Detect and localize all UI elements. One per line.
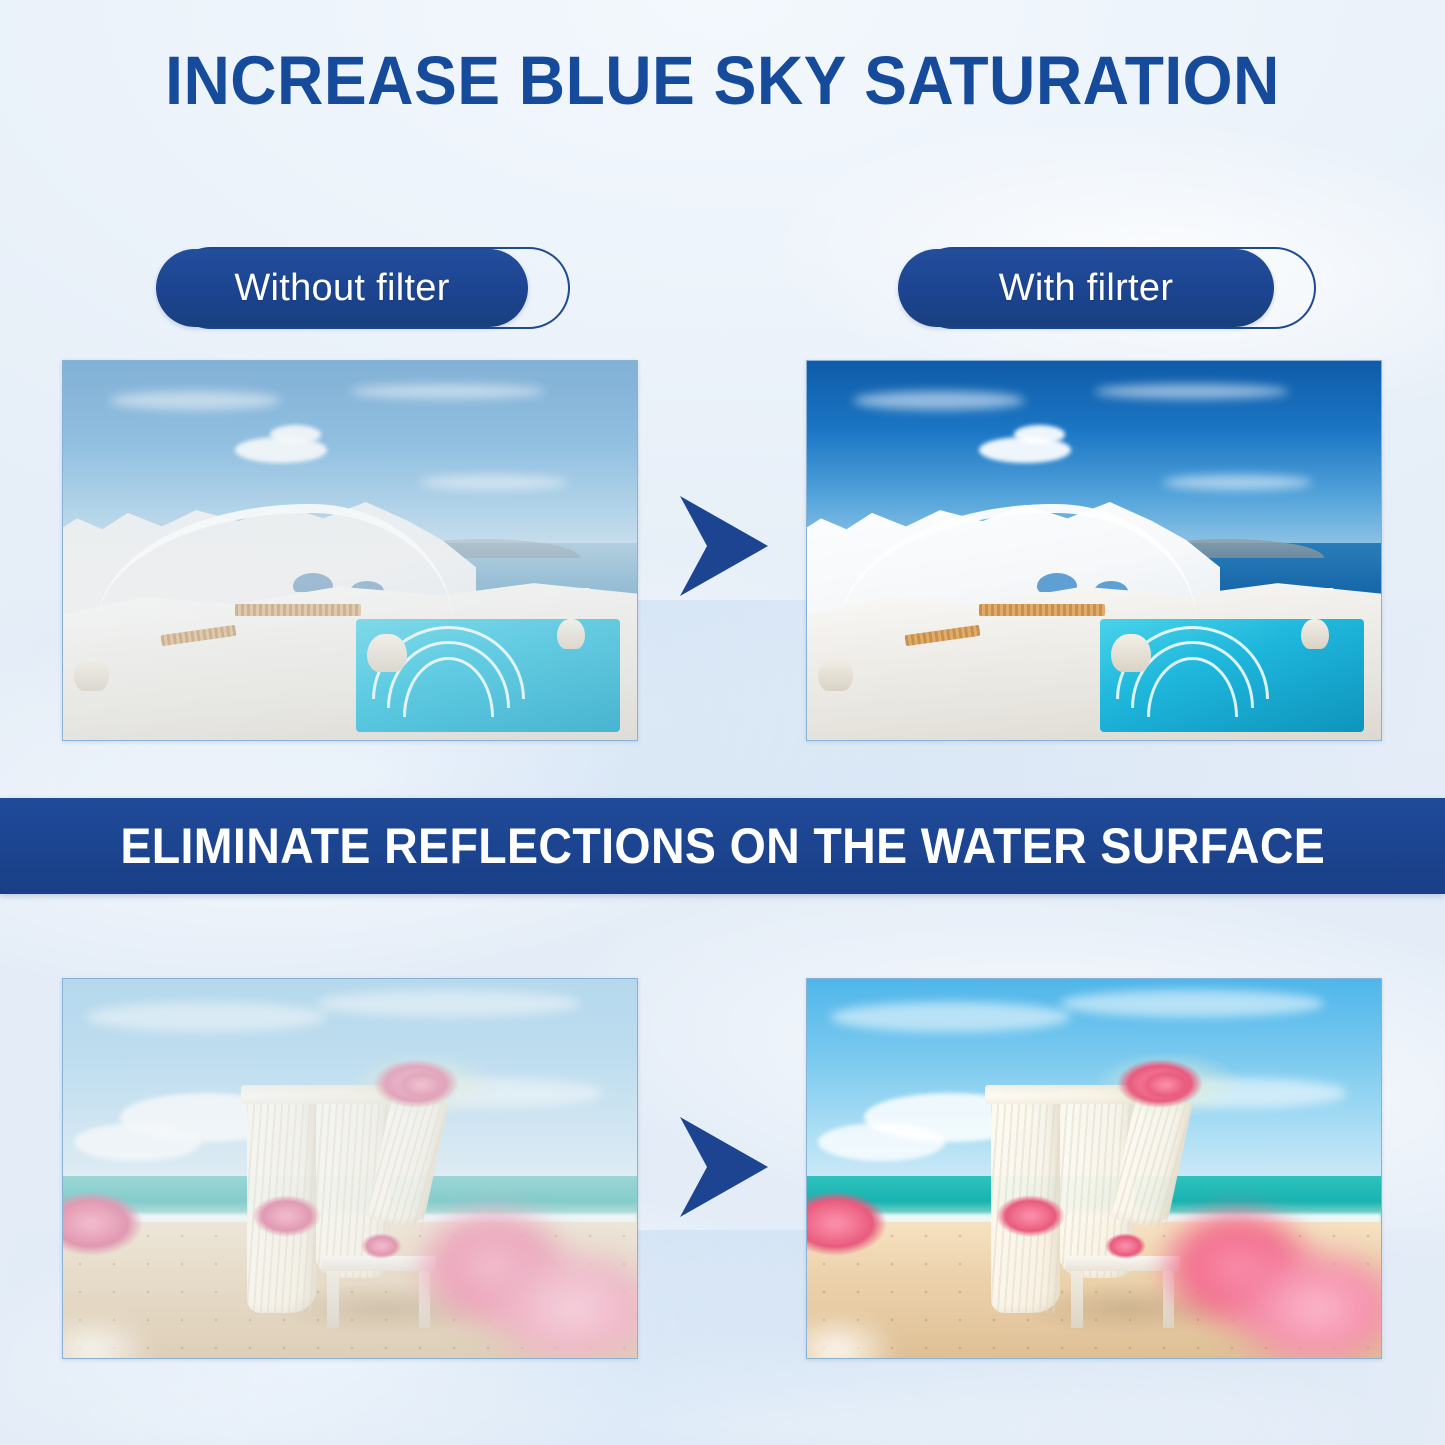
flower-arrangement-top [1140,1070,1192,1100]
photo-beach-without-filter [62,978,638,1359]
badge-fill: Without filter [156,249,528,327]
flower-arrangement-column [252,1195,321,1237]
cloud-wisp [1094,384,1289,399]
arrow-right-icon [676,1115,768,1219]
section-banner-water-reflections: ELIMINATE REFLECTIONS ON THE WATER SURFA… [0,798,1445,894]
cloud-wisp [830,1002,1071,1032]
wooden-deck [979,604,1105,616]
cloud-wisp [350,384,545,399]
cloud [74,1123,200,1161]
infographic-canvas: INCREASE BLUE SKY SATURATION Without fil… [0,0,1445,1445]
photo-santorini-without-filter [62,360,638,741]
stone-urn [367,634,407,672]
badge-with-filter-label: With filrter [999,267,1174,310]
badge-with-filter[interactable]: With filrter [898,247,1302,329]
table-leg [327,1271,338,1328]
stone-urn [74,657,108,691]
flower-arrangement-top [396,1070,448,1100]
photo-santorini-with-filter [806,360,1382,741]
arrow-right-icon [676,494,768,598]
table-flower-vase [1105,1233,1145,1260]
stone-urn [818,657,852,691]
stone-urn [557,619,586,649]
cloud-wisp [86,1002,327,1032]
cloud-wisp [316,990,580,1017]
page-title: INCREASE BLUE SKY SATURATION [51,46,1395,115]
beach-wedding-scene-unfiltered [63,979,637,1358]
stone-urn [1301,619,1330,649]
cloud-wisp [1163,475,1312,490]
banner-title: ELIMINATE REFLECTIONS ON THE WATER SURFA… [120,821,1325,871]
cloud-wisp [1060,990,1324,1017]
photo-beach-with-filter [806,978,1382,1359]
badge-without-filter[interactable]: Without filter [156,247,556,329]
stone-urn [1111,634,1151,672]
badge-fill: With filrter [898,249,1274,327]
beach-wedding-scene-filtered [807,979,1381,1358]
santorini-scene-unfiltered [63,361,637,740]
cloud [818,1123,944,1161]
wooden-deck [235,604,361,616]
table-leg [1071,1271,1082,1328]
badge-without-filter-label: Without filter [234,267,449,310]
santorini-scene-filtered [807,361,1381,740]
flower-arrangement-column [996,1195,1065,1237]
cloud-wisp [419,475,568,490]
table-flower-vase [361,1233,401,1260]
